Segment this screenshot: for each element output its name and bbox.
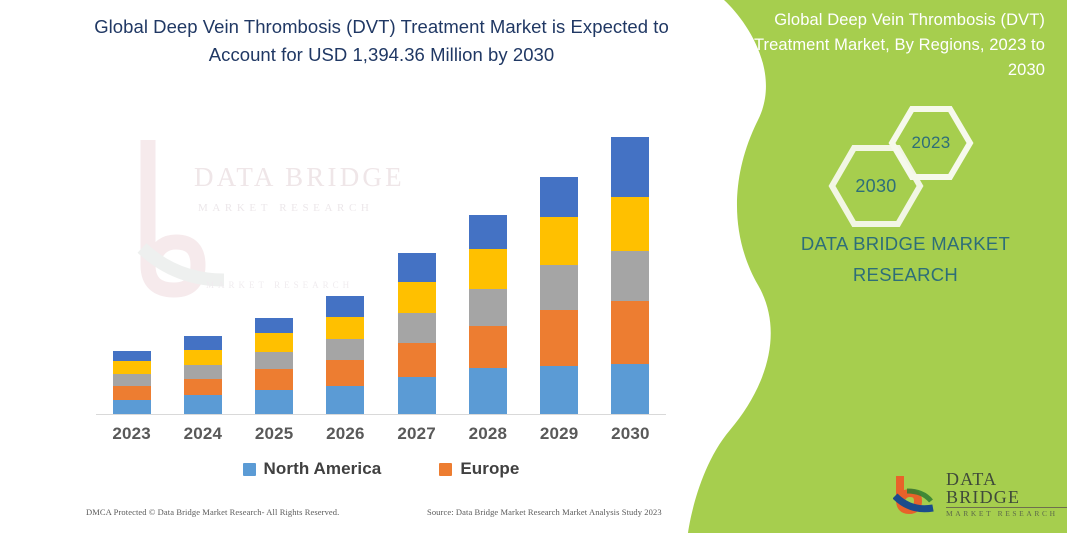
- right-green-panel: Global Deep Vein Thrombosis (DVT) Treatm…: [688, 0, 1067, 533]
- bar-segment: [398, 253, 436, 282]
- bar-segment: [540, 310, 578, 366]
- hexagon-2030-label: 2030: [855, 176, 896, 197]
- x-axis-tick-label: 2029: [524, 424, 595, 458]
- x-axis-tick-label: 2030: [595, 424, 666, 458]
- bar-segment: [255, 318, 293, 333]
- bar-column: [239, 121, 310, 414]
- panel-brand-line2: RESEARCH: [853, 264, 958, 285]
- x-axis-tick-label: 2027: [381, 424, 452, 458]
- bar-stack: [326, 296, 364, 414]
- bar-segment: [326, 360, 364, 386]
- bar-segment: [469, 368, 507, 414]
- legend-label: Europe: [460, 459, 519, 479]
- x-axis-tick-label: 2023: [96, 424, 167, 458]
- hexagon-2023-label: 2023: [911, 133, 950, 153]
- bar-column: [595, 121, 666, 414]
- bar-column: [167, 121, 238, 414]
- bar-segment: [611, 251, 649, 301]
- bar-segment: [540, 217, 578, 265]
- bar-segment: [398, 313, 436, 343]
- bar-segment: [398, 282, 436, 313]
- bar-column: [96, 121, 167, 414]
- infographic-page: Global Deep Vein Thrombosis (DVT) Treatm…: [0, 0, 1067, 533]
- bar-segment: [469, 289, 507, 326]
- bar-segment: [398, 343, 436, 377]
- bar-segment: [469, 215, 507, 249]
- bar-segment: [113, 386, 151, 400]
- bar-segment: [255, 352, 293, 369]
- bar-stack: [540, 177, 578, 414]
- legend-swatch: [243, 463, 256, 476]
- logo-wordmark-main: DATA BRIDGE: [946, 470, 1067, 508]
- bar-segment: [255, 369, 293, 390]
- hexagon-2023: 2023: [888, 105, 974, 181]
- bar-segment: [469, 326, 507, 368]
- footer-source: Source: Data Bridge Market Research Mark…: [427, 507, 662, 517]
- bar-segment: [611, 301, 649, 364]
- bar-column: [381, 121, 452, 414]
- bar-segment: [184, 350, 222, 365]
- panel-brand-line1: DATA BRIDGE MARKET: [801, 233, 1010, 254]
- x-axis-tick-label: 2024: [167, 424, 238, 458]
- bar-stack: [255, 318, 293, 414]
- bar-segment: [184, 365, 222, 379]
- panel-content: Global Deep Vein Thrombosis (DVT) Treatm…: [688, 0, 1067, 533]
- bar-stack: [184, 336, 222, 414]
- logo-mark-icon: [893, 474, 937, 514]
- bar-segment: [611, 197, 649, 251]
- chart-x-axis-line: [96, 414, 666, 415]
- panel-title: Global Deep Vein Thrombosis (DVT) Treatm…: [749, 8, 1045, 83]
- x-axis-tick-label: 2025: [239, 424, 310, 458]
- bar-segment: [255, 333, 293, 352]
- legend-swatch: [439, 463, 452, 476]
- legend-label: North America: [264, 459, 382, 479]
- logo-wordmark-sub: MARKET RESEARCH: [946, 510, 1067, 518]
- bar-stack: [611, 137, 649, 414]
- x-axis-tick-label: 2026: [310, 424, 381, 458]
- stacked-bar-group: [96, 121, 666, 414]
- bar-column: [310, 121, 381, 414]
- brand-logo: DATA BRIDGE MARKET RESEARCH: [893, 470, 1067, 518]
- legend-item[interactable]: North America: [243, 459, 382, 479]
- logo-wordmark: DATA BRIDGE MARKET RESEARCH: [946, 470, 1067, 518]
- bar-segment: [611, 137, 649, 197]
- panel-brand-name: DATA BRIDGE MARKET RESEARCH: [688, 228, 1067, 290]
- bar-segment: [398, 377, 436, 414]
- bar-segment: [540, 265, 578, 310]
- chart-plot-area: DATA BRIDGE MARKET RESEARCH MARKET RESEA…: [96, 120, 666, 415]
- bar-segment: [184, 379, 222, 395]
- chart-legend: North AmericaEurope: [96, 456, 666, 482]
- bar-segment: [611, 364, 649, 414]
- bar-segment: [540, 177, 578, 217]
- bar-segment: [469, 249, 507, 289]
- bar-segment: [184, 395, 222, 414]
- bar-stack: [398, 253, 436, 414]
- bar-segment: [540, 366, 578, 414]
- bar-segment: [326, 296, 364, 317]
- bar-segment: [113, 351, 151, 361]
- bar-segment: [113, 400, 151, 414]
- bar-segment: [326, 339, 364, 360]
- bar-stack: [469, 215, 507, 414]
- x-axis-tick-label: 2028: [452, 424, 523, 458]
- bar-segment: [184, 336, 222, 350]
- bar-segment: [255, 390, 293, 414]
- bar-segment: [326, 317, 364, 339]
- legend-item[interactable]: Europe: [439, 459, 519, 479]
- bar-segment: [113, 374, 151, 386]
- bar-segment: [113, 361, 151, 374]
- bar-stack: [113, 351, 151, 414]
- footer-copyright: DMCA Protected © Data Bridge Market Rese…: [86, 507, 339, 517]
- bar-column: [524, 121, 595, 414]
- footer: DMCA Protected © Data Bridge Market Rese…: [0, 507, 688, 529]
- chart-x-axis-labels: 20232024202520262027202820292030: [96, 424, 666, 458]
- page-title: Global Deep Vein Thrombosis (DVT) Treatm…: [90, 13, 673, 69]
- data-bridge-logo-icon: [893, 474, 937, 514]
- bar-column: [452, 121, 523, 414]
- bar-segment: [326, 386, 364, 414]
